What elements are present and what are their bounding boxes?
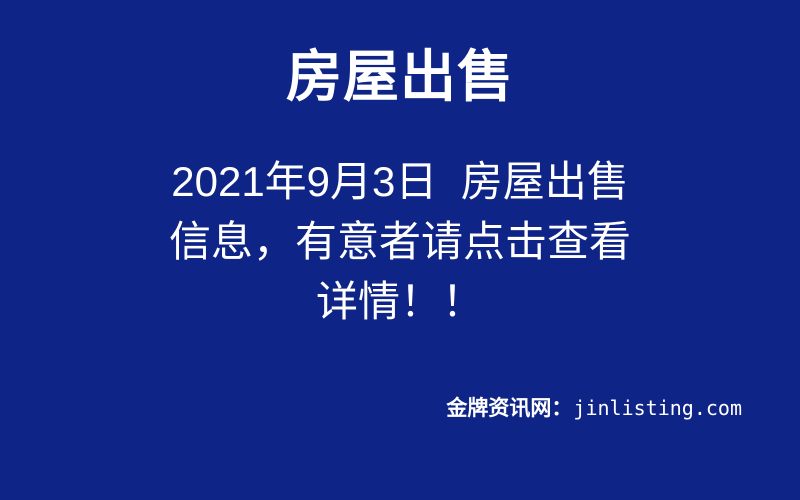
footer-site-label: 金牌资讯网： — [446, 397, 572, 420]
body-line-1: 2021年9月3日 房屋出售 — [0, 152, 800, 212]
announcement-poster: 房屋出售 2021年9月3日 房屋出售 信息，有意者请点击查看 详情！！ 金牌资… — [0, 0, 800, 500]
poster-body: 2021年9月3日 房屋出售 信息，有意者请点击查看 详情！！ — [0, 152, 800, 332]
poster-footer: 金牌资讯网：jinlisting.com — [0, 392, 800, 422]
body-line-3: 详情！！ — [0, 272, 800, 332]
poster-title-text: 房屋出售 — [286, 46, 514, 109]
footer-site-url: jinlisting.com — [573, 396, 742, 420]
poster-title: 房屋出售 — [0, 46, 800, 109]
body-line-2: 信息，有意者请点击查看 — [0, 212, 800, 272]
